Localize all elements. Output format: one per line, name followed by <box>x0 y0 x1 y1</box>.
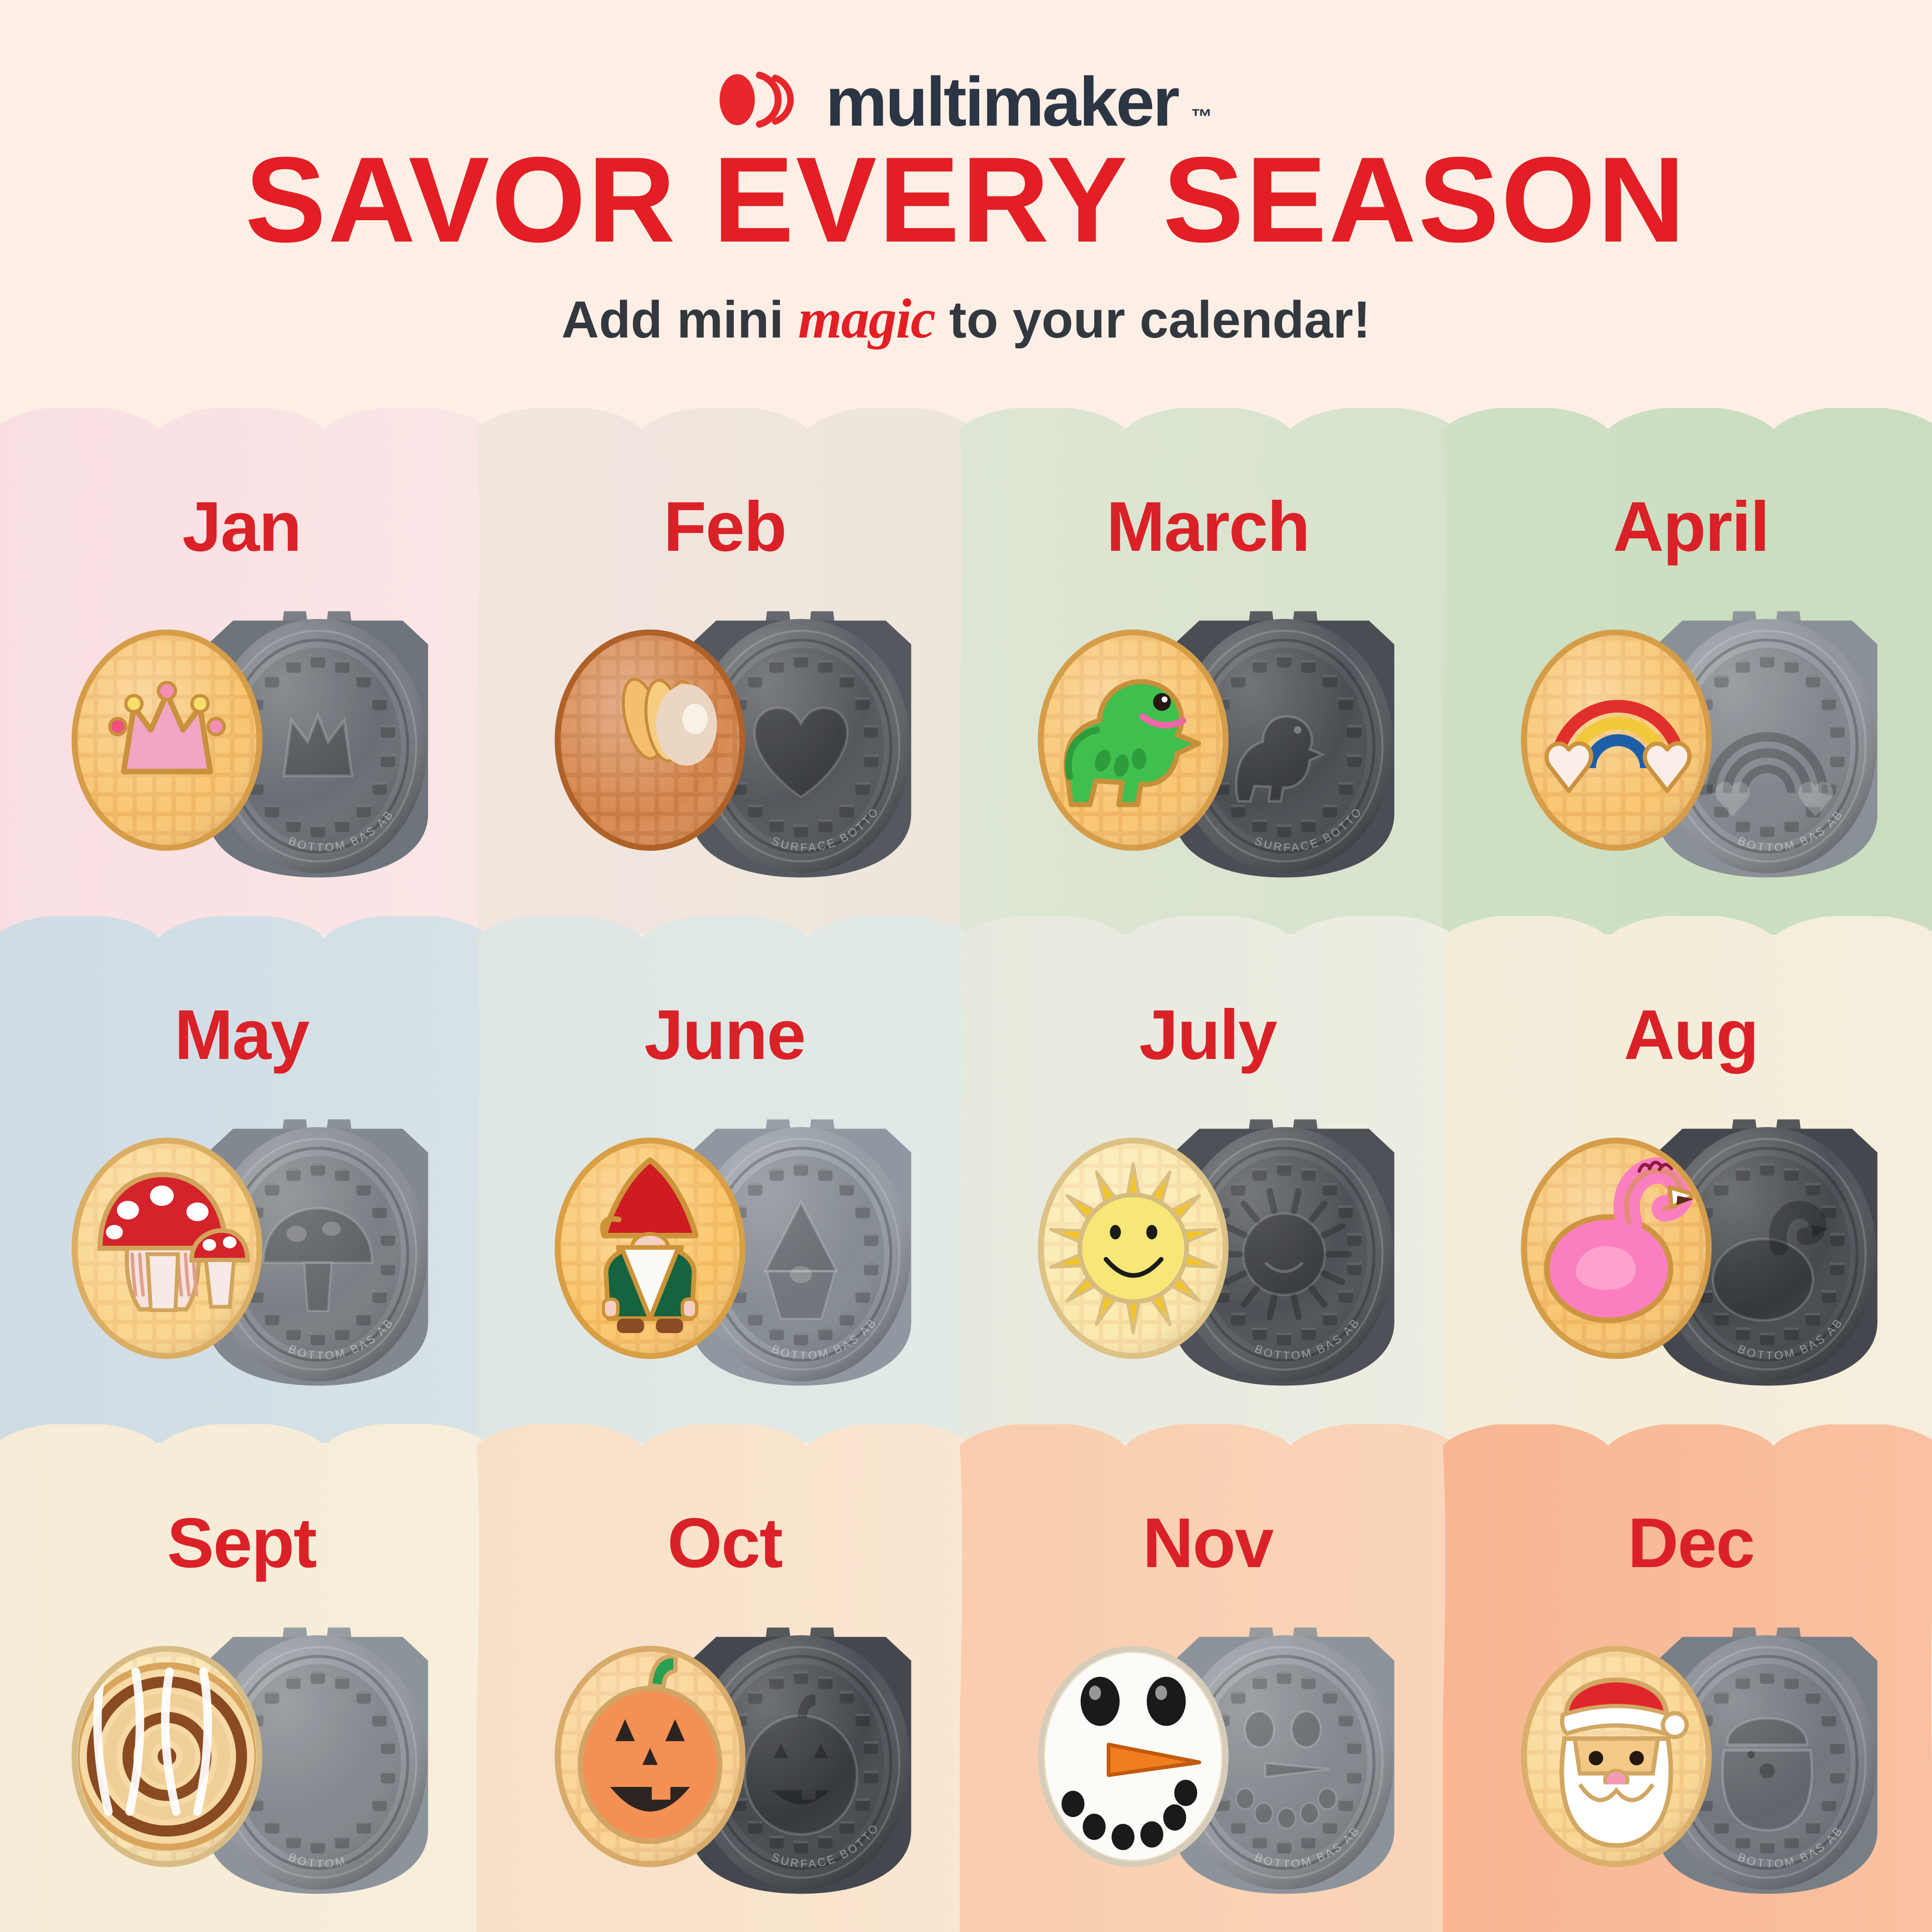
month-label: Nov <box>966 1508 1449 1578</box>
month-label: June <box>483 1000 966 1070</box>
month-label: Dec <box>1449 1508 1932 1578</box>
month-label: April <box>1449 491 1932 562</box>
month-label: May <box>0 1000 483 1070</box>
month-cell-sept[interactable]: Sept BOTTOM <box>0 1424 483 1932</box>
dinosaur-waffle[interactable]: SURFACE BOTTOM <box>1008 593 1407 881</box>
decorated-waffle <box>558 1141 743 1356</box>
flamingo-waffle[interactable]: BOTTOM BAS ABAJO <box>1492 1102 1890 1389</box>
snowman-waffle[interactable]: BOTTOM BAS ABAJO <box>1008 1610 1407 1897</box>
month-label: July <box>966 1000 1449 1070</box>
subtitle-part-1: Add mini <box>561 291 798 349</box>
decorated-waffle <box>1524 1141 1709 1356</box>
decorated-waffle <box>1524 632 1709 848</box>
month-cell-april[interactable]: April <box>1449 408 1932 916</box>
multimaker-wave-logo-icon <box>715 65 808 134</box>
month-grid: Jan BOTTOM BAS A <box>0 408 1932 1932</box>
month-label: March <box>966 491 1449 562</box>
sun-waffle[interactable]: BOTTOM BAS ABAJO <box>1008 1102 1407 1389</box>
month-label: Sept <box>0 1508 483 1578</box>
decorated-waffle <box>558 632 743 848</box>
heart-banana-waffle[interactable]: SURFACE BOTTOM <box>525 593 924 881</box>
santa-waffle[interactable]: BOTTOM BAS ABAJO <box>1492 1610 1890 1897</box>
month-cell-march[interactable]: March <box>966 408 1449 916</box>
month-cell-may[interactable]: May <box>0 916 483 1424</box>
month-cell-nov[interactable]: Nov <box>966 1424 1449 1932</box>
decorated-waffle <box>1041 1649 1226 1864</box>
decorated-waffle <box>1524 1649 1709 1864</box>
decorated-waffle <box>75 632 260 848</box>
rainbow-waffle[interactable]: BOTTOM BAS ABAJO <box>1492 593 1890 881</box>
decorated-waffle <box>1041 1141 1226 1356</box>
poster-header: multimaker ™ SAVOR EVERY SEASON Add mini… <box>0 0 1932 417</box>
trademark-symbol: ™ <box>1191 104 1212 129</box>
crown-waffle[interactable]: BOTTOM BAS ABAJO <box>42 593 441 881</box>
subtitle-part-2: to your calendar! <box>935 291 1371 349</box>
month-cell-dec[interactable]: Dec <box>1449 1424 1932 1932</box>
month-cell-june[interactable]: June <box>483 916 966 1424</box>
pumpkin-waffle[interactable]: SURFACE BOTTOM <box>525 1610 924 1897</box>
cinnamon-roll-waffle[interactable]: BOTTOM <box>42 1610 441 1897</box>
gnome-waffle[interactable]: BOTTOM BAS ABAJO <box>525 1102 924 1389</box>
month-label: Oct <box>483 1508 966 1578</box>
month-cell-feb[interactable]: Feb SURFACE BOTT <box>483 408 966 916</box>
month-cell-aug[interactable]: Aug <box>1449 916 1932 1424</box>
month-label: Aug <box>1449 1000 1932 1070</box>
month-cell-jan[interactable]: Jan BOTTOM BAS A <box>0 408 483 916</box>
brand-name: multimaker <box>825 67 1178 136</box>
page-subtitle: Add mini magic to your calendar! <box>0 285 1932 353</box>
decorated-waffle <box>75 1141 260 1356</box>
decorated-waffle <box>558 1649 743 1864</box>
month-cell-july[interactable]: July <box>966 916 1449 1424</box>
mushroom-waffle[interactable]: BOTTOM BAS ABAJO <box>42 1102 441 1389</box>
month-label: Jan <box>0 491 483 562</box>
month-cell-oct[interactable]: Oct <box>483 1424 966 1932</box>
poster-root: multimaker ™ SAVOR EVERY SEASON Add mini… <box>0 0 1932 1932</box>
page-title: SAVOR EVERY SEASON <box>0 139 1932 261</box>
brand-logo: multimaker ™ <box>0 65 1932 134</box>
decorated-waffle <box>1041 632 1226 848</box>
month-label: Feb <box>483 491 966 562</box>
subtitle-script-word: magic <box>798 287 935 350</box>
decorated-waffle <box>75 1649 260 1864</box>
